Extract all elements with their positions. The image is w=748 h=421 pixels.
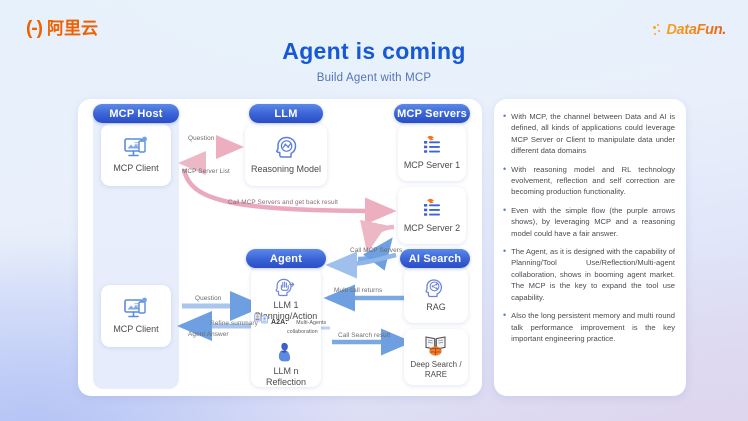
group-header-llm: LLM [249,104,323,123]
edge-label-mcp-server-list: MCP Server List [182,168,230,175]
server-list-icon [420,135,444,157]
edge-label-call-mcp-servers-result: Call MCP Servers and get back result [228,199,338,206]
note-text: Also the long persistent memory and mult… [511,310,675,344]
note-item: • The Agent, as it is designed with the … [503,246,675,303]
datafun-logo-text: DataFun. [666,22,726,38]
bullet-icon: • [503,205,506,239]
slide-root: (-) 阿里云 Agent is coming Build Agent with… [0,0,748,421]
server-list-icon [420,198,444,220]
page-title: Agent is coming [0,38,748,65]
node-rag[interactable]: RAG [404,267,468,323]
reflection-person-icon [276,341,296,363]
bullet-icon: • [503,111,506,157]
title-block: Agent is coming Build Agent with MCP [0,38,748,84]
note-text: Even with the simple flow (the purple ar… [511,205,675,239]
node-mcp-client-top-label: MCP Client [113,163,158,173]
edge-label-call-search-result: Call Search result [338,332,390,339]
alibaba-cloud-logo: (-) 阿里云 [26,19,98,38]
monitor-icon [123,136,149,160]
node-llm-n-label: LLM n [273,366,298,376]
monitor-icon [123,297,149,321]
bullet-icon: • [503,164,506,198]
node-reasoning-model-label: Reasoning Model [251,164,321,174]
edge-label-multi-call-returns: Multi call returns [334,287,382,294]
page-subtitle: Build Agent with MCP [0,72,748,84]
group-header-mcp-host-label: MCP Host [109,108,162,120]
architecture-diagram-panel: MCP Host MCP Client [78,99,482,396]
group-header-agent-label: Agent [270,253,302,265]
planning-head-icon [273,277,299,297]
node-reasoning-model[interactable]: Reasoning Model [245,124,327,186]
book-brain-icon [423,335,449,357]
note-item: • With MCP, the channel between Data and… [503,111,675,157]
a2a-annotation: A2A: Multi-Agents collaboration [254,311,326,335]
a2a-title: A2A: [271,319,288,326]
note-item: • Also the long persistent memory and mu… [503,310,675,344]
note-item: • With reasoning model and RL technology… [503,164,675,198]
agents-collaboration-icon [254,313,269,328]
node-llm-n-sublabel: Reflection [266,377,306,387]
group-header-mcp-servers: MCP Servers [394,104,470,123]
group-header-ai-search-label: AI Search [409,253,462,265]
alibaba-cloud-logo-text: 阿里云 [47,20,98,37]
node-llm-1-label: LLM 1 [273,300,298,310]
group-header-agent: Agent [246,249,326,268]
node-mcp-server-1-label: MCP Server 1 [404,160,460,170]
sparkle-icon [653,24,664,37]
bullet-icon: • [503,246,506,303]
datafun-logo: DataFun. [653,22,726,38]
note-item: • Even with the simple flow (the purple … [503,205,675,239]
node-deep-search-label: Deep Search / RARE [404,360,468,378]
note-text: With reasoning model and RL technology e… [511,164,675,198]
note-text: The Agent, as it is designed with the ca… [511,246,675,303]
group-header-mcp-servers-label: MCP Servers [397,108,467,120]
node-deep-search[interactable]: Deep Search / RARE [404,329,468,385]
brain-head-icon [273,135,299,161]
group-header-llm-label: LLM [274,108,297,120]
group-header-ai-search: AI Search [400,249,470,268]
node-mcp-server-1[interactable]: MCP Server 1 [398,124,466,181]
a2a-sub-line1: Multi-Agents [296,320,326,326]
bullet-icon: • [503,310,506,344]
edge-label-agent-answer: Agent Answer [188,331,229,338]
group-header-mcp-host: MCP Host [93,104,179,123]
edge-label-question-bottom: Question [195,295,221,302]
alibaba-cloud-mark-icon: (-) [26,19,42,38]
note-text: With MCP, the channel between Data and A… [511,111,675,157]
edge-label-call-mcp-servers: Call MCP Servers [350,247,402,254]
edge-label-refine-summary: Refine summary [210,320,258,327]
node-mcp-client-bottom[interactable]: MCP Client [101,285,171,347]
node-mcp-client-top[interactable]: MCP Client [101,124,171,186]
rag-head-icon [424,277,448,299]
node-mcp-client-bottom-label: MCP Client [113,324,158,334]
edge-label-question-top: Question [188,135,214,142]
node-mcp-server-2[interactable]: MCP Server 2 [398,187,466,244]
a2a-sub-line2: collaboration [287,329,326,335]
notes-panel: • With MCP, the channel between Data and… [494,99,686,396]
node-mcp-server-2-label: MCP Server 2 [404,223,460,233]
node-rag-label: RAG [426,302,446,312]
